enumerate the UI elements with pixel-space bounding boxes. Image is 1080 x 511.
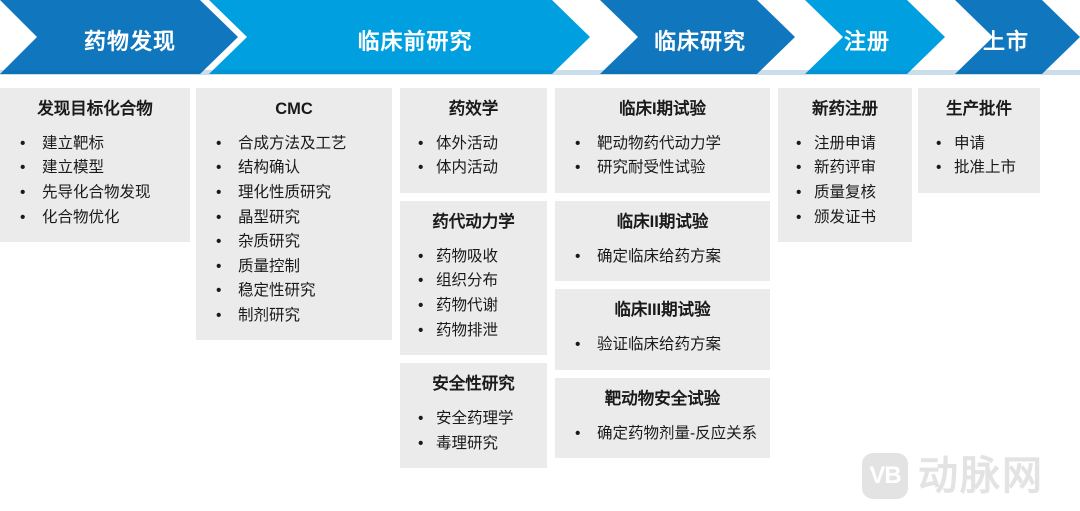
card-bullet-list: •合成方法及工艺 •结构确认 •理化性质研究 •晶型研究 •杂质研究 •质量控制…	[204, 132, 384, 327]
bullet-dot-icon: •	[216, 279, 221, 303]
list-item: •验证临床给药方案	[563, 333, 762, 357]
list-item-label: 颁发证书	[814, 209, 876, 226]
card-title: 发现目标化合物	[8, 98, 182, 124]
watermark-badge-icon: VB	[862, 453, 908, 499]
list-item: •建立靶标	[8, 132, 182, 156]
card-bullet-list: •确定临床给药方案	[563, 245, 762, 269]
card-title: 临床I期试验	[563, 98, 762, 124]
list-item: •注册申请	[786, 132, 904, 156]
bullet-dot-icon: •	[418, 407, 423, 431]
column-drug-discovery: 发现目标化合物 •建立靶标 •建立模型 •先导化合物发现 •化合物优化	[0, 88, 190, 250]
bullet-dot-icon: •	[796, 206, 801, 230]
list-item: •理化性质研究	[204, 181, 384, 205]
card-bullet-list: •注册申请 •新药评审 •质量复核 •颁发证书	[786, 132, 904, 229]
list-item: •药物代谢	[408, 294, 539, 318]
card-title: 药效学	[408, 98, 539, 124]
bullet-dot-icon: •	[20, 156, 25, 180]
ribbon-arrow-5[interactable]	[955, 0, 1080, 74]
list-item-label: 研究耐受性试验	[597, 159, 706, 176]
list-item-label: 批准上市	[954, 159, 1016, 176]
bullet-dot-icon: •	[796, 181, 801, 205]
process-ribbon: 药物发现 临床前研究 临床研究 注册 上市	[0, 0, 1080, 76]
list-item-label: 稳定性研究	[238, 282, 316, 299]
list-item: •建立模型	[8, 156, 182, 180]
card-bullet-list: •靶动物药代动力学 •研究耐受性试验	[563, 132, 762, 180]
bullet-dot-icon: •	[575, 422, 580, 446]
column-registration: 新药注册 •注册申请 •新药评审 •质量复核 •颁发证书	[778, 88, 912, 250]
list-item-label: 组织分布	[436, 272, 498, 289]
ribbon-arrow-4[interactable]	[805, 0, 945, 74]
card-bullet-list: •安全药理学 •毒理研究	[408, 407, 539, 455]
bullet-dot-icon: •	[20, 206, 25, 230]
list-item: •体外活动	[408, 132, 539, 156]
card-bullet-list: •申请 •批准上市	[926, 132, 1032, 180]
bullet-dot-icon: •	[418, 245, 423, 269]
column-clinical-trials: 临床I期试验 •靶动物药代动力学 •研究耐受性试验 临床II期试验 •确定临床给…	[555, 88, 770, 466]
card-bullet-list: •验证临床给药方案	[563, 333, 762, 357]
list-item-label: 药物排泄	[436, 322, 498, 339]
list-item-label: 毒理研究	[436, 435, 498, 452]
list-item: •结构确认	[204, 156, 384, 180]
bullet-dot-icon: •	[575, 156, 580, 180]
list-item: •组织分布	[408, 269, 539, 293]
list-item: •靶动物药代动力学	[563, 132, 762, 156]
column-preclinical-studies: 药效学 •体外活动 •体内活动 药代动力学 •药物吸收 •组织分布 •药物代谢 …	[400, 88, 547, 476]
card-bullet-list: •确定药物剂量-反应关系	[563, 422, 762, 446]
bullet-dot-icon: •	[418, 432, 423, 456]
list-item-label: 体内活动	[436, 159, 498, 176]
card-pharmacokinetics[interactable]: 药代动力学 •药物吸收 •组织分布 •药物代谢 •药物排泄	[400, 201, 547, 355]
list-item-label: 杂质研究	[238, 233, 300, 250]
card-title: 靶动物安全试验	[563, 388, 762, 414]
card-cmc[interactable]: CMC •合成方法及工艺 •结构确认 •理化性质研究 •晶型研究 •杂质研究 •…	[196, 88, 392, 340]
bullet-dot-icon: •	[418, 294, 423, 318]
list-item: •确定药物剂量-反应关系	[563, 422, 762, 446]
list-item-label: 新药评审	[814, 159, 876, 176]
card-title: 生产批件	[926, 98, 1032, 124]
list-item: •研究耐受性试验	[563, 156, 762, 180]
infographic-root: 药物发现 临床前研究 临床研究 注册 上市 发现目标化合物 •建立靶标 •建立模…	[0, 0, 1080, 511]
list-item-label: 申请	[954, 135, 985, 152]
list-item: •先导化合物发现	[8, 181, 182, 205]
ribbon-arrow-3[interactable]	[600, 0, 795, 74]
bullet-dot-icon: •	[216, 181, 221, 205]
list-item-label: 质量控制	[238, 258, 300, 275]
list-item: •体内活动	[408, 156, 539, 180]
list-item: •毒理研究	[408, 432, 539, 456]
list-item-label: 确定药物剂量-反应关系	[597, 425, 757, 442]
bullet-dot-icon: •	[418, 156, 423, 180]
list-item: •安全药理学	[408, 407, 539, 431]
card-production-approval[interactable]: 生产批件 •申请 •批准上市	[918, 88, 1040, 193]
bullet-dot-icon: •	[20, 181, 25, 205]
column-market-launch: 生产批件 •申请 •批准上市	[918, 88, 1040, 201]
watermark-text: 动脉网	[918, 456, 1044, 496]
bullet-dot-icon: •	[216, 230, 221, 254]
list-item: •批准上市	[926, 156, 1032, 180]
watermark-logo: VB 动脉网	[862, 453, 1044, 499]
card-bullet-list: •药物吸收 •组织分布 •药物代谢 •药物排泄	[408, 245, 539, 342]
bullet-dot-icon: •	[575, 333, 580, 357]
list-item-label: 安全药理学	[436, 410, 514, 427]
list-item-label: 质量复核	[814, 184, 876, 201]
bullet-dot-icon: •	[20, 132, 25, 156]
list-item-label: 药物吸收	[436, 248, 498, 265]
bullet-dot-icon: •	[216, 255, 221, 279]
card-phase-1-trial[interactable]: 临床I期试验 •靶动物药代动力学 •研究耐受性试验	[555, 88, 770, 193]
list-item-label: 化合物优化	[42, 209, 120, 226]
list-item-label: 建立靶标	[42, 135, 104, 152]
card-phase-3-trial[interactable]: 临床III期试验 •验证临床给药方案	[555, 289, 770, 369]
stage-columns: 发现目标化合物 •建立靶标 •建立模型 •先导化合物发现 •化合物优化 CMC …	[0, 88, 1080, 511]
list-item: •申请	[926, 132, 1032, 156]
list-item-label: 合成方法及工艺	[238, 135, 347, 152]
card-title: 新药注册	[786, 98, 904, 124]
bullet-dot-icon: •	[216, 156, 221, 180]
list-item-label: 靶动物药代动力学	[597, 135, 721, 152]
bullet-dot-icon: •	[936, 156, 941, 180]
card-title: 临床II期试验	[563, 211, 762, 237]
list-item: •晶型研究	[204, 206, 384, 230]
bullet-dot-icon: •	[575, 132, 580, 156]
bullet-dot-icon: •	[936, 132, 941, 156]
list-item-label: 注册申请	[814, 135, 876, 152]
ribbon-arrows-svg	[0, 0, 1080, 76]
list-item: •颁发证书	[786, 206, 904, 230]
list-item-label: 制剂研究	[238, 307, 300, 324]
list-item-label: 结构确认	[238, 159, 300, 176]
list-item-label: 理化性质研究	[238, 184, 331, 201]
column-cmc: CMC •合成方法及工艺 •结构确认 •理化性质研究 •晶型研究 •杂质研究 •…	[196, 88, 392, 348]
bullet-dot-icon: •	[216, 206, 221, 230]
list-item: •确定临床给药方案	[563, 245, 762, 269]
card-safety-studies[interactable]: 安全性研究 •安全药理学 •毒理研究	[400, 363, 547, 468]
card-title: 药代动力学	[408, 211, 539, 237]
bullet-dot-icon: •	[418, 319, 423, 343]
bullet-dot-icon: •	[796, 156, 801, 180]
list-item-label: 先导化合物发现	[42, 184, 151, 201]
card-title: 安全性研究	[408, 373, 539, 399]
card-new-drug-registration[interactable]: 新药注册 •注册申请 •新药评审 •质量复核 •颁发证书	[778, 88, 912, 242]
list-item: •合成方法及工艺	[204, 132, 384, 156]
list-item-label: 确定临床给药方案	[597, 248, 721, 265]
ribbon-arrow-1[interactable]	[0, 0, 238, 74]
card-phase-2-trial[interactable]: 临床II期试验 •确定临床给药方案	[555, 201, 770, 281]
list-item: •质量控制	[204, 255, 384, 279]
list-item: •药物排泄	[408, 319, 539, 343]
list-item: •新药评审	[786, 156, 904, 180]
card-title: 临床III期试验	[563, 299, 762, 325]
bullet-dot-icon: •	[216, 132, 221, 156]
list-item-label: 体外活动	[436, 135, 498, 152]
card-discover-target-compound[interactable]: 发现目标化合物 •建立靶标 •建立模型 •先导化合物发现 •化合物优化	[0, 88, 190, 242]
list-item: •杂质研究	[204, 230, 384, 254]
card-bullet-list: •建立靶标 •建立模型 •先导化合物发现 •化合物优化	[8, 132, 182, 229]
ribbon-arrow-2[interactable]	[209, 0, 590, 74]
ribbon-shadow-strip	[0, 70, 1080, 75]
list-item-label: 建立模型	[42, 159, 104, 176]
list-item: •制剂研究	[204, 304, 384, 328]
list-item-label: 药物代谢	[436, 297, 498, 314]
bullet-dot-icon: •	[418, 269, 423, 293]
bullet-dot-icon: •	[796, 132, 801, 156]
list-item: •稳定性研究	[204, 279, 384, 303]
list-item: •质量复核	[786, 181, 904, 205]
card-bullet-list: •体外活动 •体内活动	[408, 132, 539, 180]
bullet-dot-icon: •	[418, 132, 423, 156]
card-title: CMC	[204, 98, 384, 124]
list-item: •化合物优化	[8, 206, 182, 230]
bullet-dot-icon: •	[575, 245, 580, 269]
card-target-animal-safety-trial[interactable]: 靶动物安全试验 •确定药物剂量-反应关系	[555, 378, 770, 458]
card-pharmacodynamics[interactable]: 药效学 •体外活动 •体内活动	[400, 88, 547, 193]
bullet-dot-icon: •	[216, 304, 221, 328]
list-item-label: 晶型研究	[238, 209, 300, 226]
list-item-label: 验证临床给药方案	[597, 336, 721, 353]
list-item: •药物吸收	[408, 245, 539, 269]
